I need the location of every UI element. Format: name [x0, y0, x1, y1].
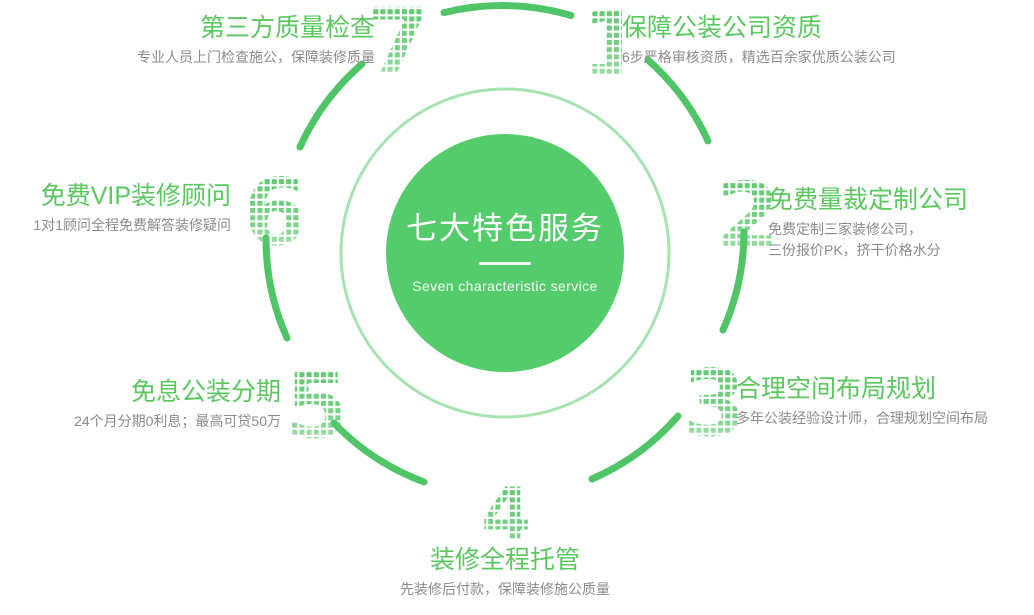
numeral-2-glyph: 2 — [716, 176, 772, 258]
service-item-4-desc: 先装修后付款，保障装修施公质量 — [400, 579, 610, 600]
service-item-2-title: 免费量裁定制公司 — [768, 186, 968, 216]
hub-title: 七大特色服务 — [406, 212, 604, 246]
service-item-7-desc: 专业人员上门检查施公，保障装修质量 — [137, 47, 375, 68]
numeral-5-glyph: 5 — [285, 365, 341, 447]
numeral-1-glyph: 1 — [580, 4, 622, 86]
service-item-7-title: 第三方质量检查 — [137, 14, 375, 44]
service-item-2: 免费量裁定制公司 免费定制三家装修公司， 三份报价PK，挤干价格水分 — [768, 186, 968, 261]
service-item-3: 合理空间布局规划 多年公装经验设计师，合理规划空间布局 — [736, 375, 988, 429]
service-item-5-desc: 24个月分期0利息；最高可贷50万 — [74, 411, 281, 432]
numeral-4-glyph: 4 — [481, 483, 531, 547]
service-item-5-title: 免息公装分期 — [74, 378, 281, 408]
numeral-5: 5 — [285, 365, 341, 447]
service-item-2-desc: 免费定制三家装修公司， — [768, 219, 968, 240]
service-item-4: 装修全程托管 先装修后付款，保障装修施公质量 — [400, 546, 610, 600]
hub-subtitle: Seven characteristic service — [412, 278, 598, 294]
service-item-3-title: 合理空间布局规划 — [736, 375, 988, 405]
numeral-3: 3 — [682, 363, 738, 445]
service-item-5: 免息公装分期 24个月分期0利息；最高可贷50万 — [74, 378, 281, 432]
numeral-6-glyph: 6 — [243, 172, 299, 254]
hub-divider — [479, 262, 531, 265]
service-item-6-title: 免费VIP装修顾问 — [33, 182, 231, 212]
infographic-canvas: 七大特色服务 Seven characteristic service 1 2 … — [0, 0, 1034, 615]
service-item-2-desc-line2: 三份报价PK，挤干价格水分 — [768, 240, 968, 261]
service-item-6-desc: 1对1顾问全程免费解答装修疑问 — [33, 215, 231, 236]
service-item-7: 第三方质量检查 专业人员上门检查施公，保障装修质量 — [137, 14, 375, 68]
service-item-1: 保障公装公司资质 6步严格审核资质，精选百余家优质公装公司 — [622, 14, 896, 68]
service-item-1-title: 保障公装公司资质 — [622, 14, 896, 44]
service-item-6: 免费VIP装修顾问 1对1顾问全程免费解答装修疑问 — [33, 182, 231, 236]
numeral-6: 6 — [243, 172, 299, 254]
service-item-1-desc: 6步严格审核资质，精选百余家优质公装公司 — [622, 47, 896, 68]
numeral-1: 1 — [578, 4, 622, 86]
service-item-4-title: 装修全程托管 — [400, 546, 610, 576]
numeral-3-glyph: 3 — [682, 363, 738, 445]
numeral-4: 4 — [481, 483, 537, 547]
center-hub: 七大特色服务 Seven characteristic service — [386, 134, 624, 372]
service-item-3-desc: 多年公装经验设计师，合理规划空间布局 — [736, 408, 988, 429]
numeral-2: 2 — [716, 176, 772, 258]
